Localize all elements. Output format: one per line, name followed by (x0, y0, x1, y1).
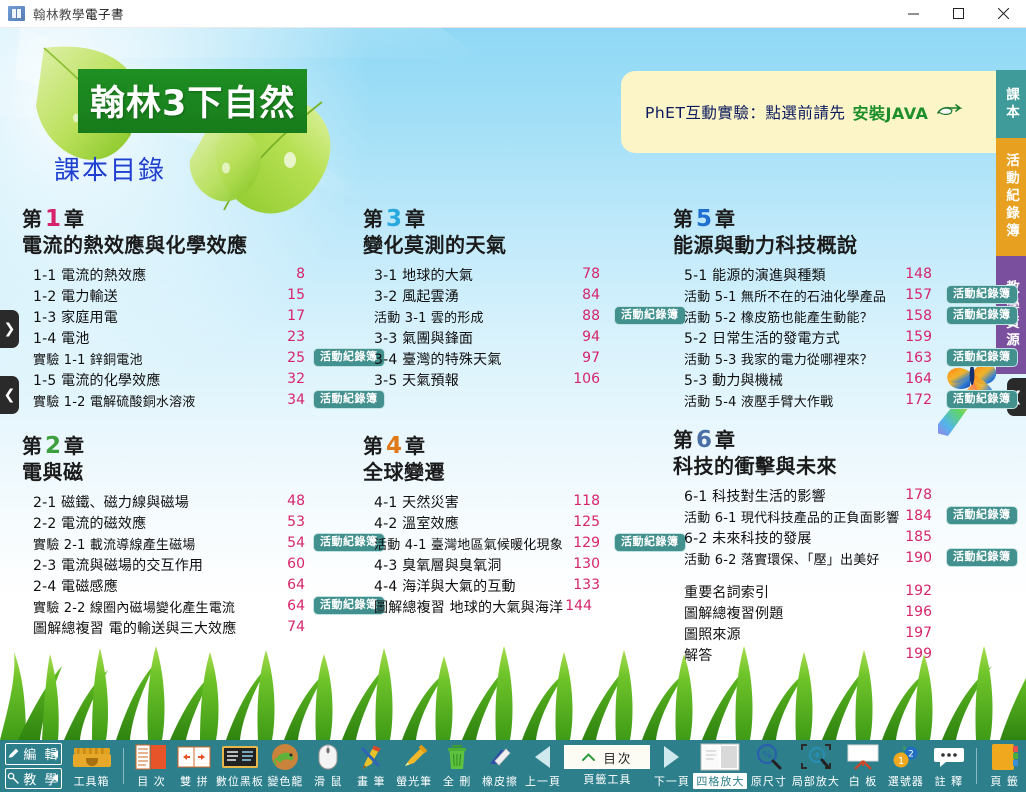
phet-notice-text: PhET互動實驗：點選前請先 (645, 101, 845, 123)
toc-entry-page: 159 (902, 327, 932, 348)
toc-entry-label: 解答 (684, 648, 712, 664)
activity-log-badge[interactable]: 活動紀錄簿 (946, 390, 1018, 409)
chapter-title: 全球變遷 (363, 459, 693, 486)
toc-entry-page: 190 (902, 548, 932, 569)
toc-entry[interactable]: 實驗 1-1 鋅銅電池25活動紀錄簿 (33, 348, 352, 369)
toc-entry-page: 125 (570, 512, 600, 533)
toc-entry-page: 94 (570, 327, 600, 348)
book-title-banner: 翰林3下自然 (78, 69, 307, 133)
book-page: 翰林3下自然 課本目錄 PhET互動實驗：點選前請先 安裝JAVA 課本 活動紀… (0, 28, 1026, 740)
actual-size-icon: % (754, 742, 784, 772)
toc-entry-label: 重要名詞索引 (684, 585, 769, 601)
toc-entry[interactable]: 活動 5-4 液壓手臂大作戰172活動紀錄簿 (684, 390, 1003, 411)
toc-entry-label: 6-1 科技對生活的影響 (684, 489, 826, 505)
toc-entry[interactable]: 活動 6-1 現代科技產品的正負面影響184活動紀錄簿 (684, 506, 1003, 527)
toc-entry-page: 178 (902, 485, 932, 506)
pen-icon (356, 742, 386, 772)
toc-entry-page: 129 (570, 533, 600, 554)
toc-entry-page: 74 (277, 617, 305, 638)
toolbar-label: 畫 筆 (357, 773, 386, 789)
triangle-left-icon (535, 746, 550, 768)
triangle-right-icon (664, 746, 679, 768)
toc-entry-label: 活動 5-3 我家的電力從哪裡來？ (684, 353, 873, 368)
chapter-prefix: 第 (22, 207, 43, 231)
toc-entry-page: 97 (570, 348, 600, 369)
edit-mode-button[interactable]: 編 輯 (5, 743, 62, 765)
toc-entry[interactable]: 3-3 氣團與鋒面94 (374, 327, 693, 348)
toc-entry-page: 106 (570, 369, 600, 390)
page-tab-tool: 目次 頁籤工具 (564, 740, 650, 792)
side-tab-textbook[interactable]: 課本 (996, 70, 1026, 138)
four-pane-zoom-button[interactable]: 四格放大 (693, 740, 747, 792)
toc-entry-page: 84 (570, 285, 600, 306)
activity-log-badge[interactable]: 活動紀錄簿 (946, 548, 1018, 567)
page-selector[interactable]: 目次 (564, 745, 650, 769)
minimize-button[interactable] (891, 0, 936, 28)
toc-entry-label: 活動 3-1 雲的形成 (374, 311, 484, 326)
toolbox-button[interactable]: 工具箱 (66, 740, 117, 792)
toc-entry-page: 130 (570, 554, 600, 575)
toolbar-label: 目 次 (137, 773, 166, 789)
chapter-suffix: 章 (64, 434, 85, 458)
chapter-prefix: 第 (363, 434, 384, 458)
chapter-title: 變化莫測的天氣 (363, 232, 693, 259)
chapter-title: 電流的熱效應與化學效應 (22, 232, 352, 259)
toc-entry[interactable]: 5-2 日常生活的發電方式159 (684, 327, 1003, 348)
chapter-heading-line: 第6章 (673, 427, 1003, 453)
toc-entry-label: 2-3 電流與磁場的交互作用 (33, 558, 203, 574)
actual-size-label: 原尺寸 (751, 773, 787, 789)
toc-entry-label: 2-4 電磁感應 (33, 579, 118, 595)
toc-entry-page: 199 (902, 644, 932, 665)
toc-entry-label: 活動 5-2 橡皮筋也能產生動能？ (684, 311, 873, 326)
toc-entry-page: 48 (277, 491, 305, 512)
four-pane-zoom-icon (700, 742, 740, 772)
page-selector-value: 目次 (603, 748, 632, 767)
toc-entry-label: 6-2 未來科技的發展 (684, 531, 812, 547)
application-window: 翰林教學電子書 (0, 0, 1026, 792)
toc-entry[interactable]: 圖解總複習例題196 (684, 602, 1003, 623)
comment-button[interactable]: 註 釋 (927, 740, 970, 792)
blackboard-icon (222, 742, 258, 772)
toc-entry-page: 164 (902, 369, 932, 390)
pointing-hand-icon (934, 100, 964, 124)
chapter-entries: 2-1 磁鐵、磁力線與磁場48 2-2 電流的磁效應53 實驗 2-1 載流導線… (33, 491, 352, 638)
phet-banner[interactable]: PhET互動實驗：點選前請先 安裝JAVA (621, 71, 1020, 153)
svg-text:%: % (762, 750, 772, 761)
toc-entry-page: 184 (902, 506, 932, 527)
teach-mode-button[interactable]: 教 學 (5, 768, 62, 790)
close-button[interactable] (981, 0, 1026, 28)
toc-entry-label: 5-2 日常生活的發電方式 (684, 331, 840, 347)
toc-entry-label: 活動 5-4 液壓手臂大作戰 (684, 395, 833, 410)
teach-mode-arrow-icon (52, 774, 58, 782)
toc-entry-page: 118 (570, 491, 600, 512)
svg-text:1: 1 (898, 756, 904, 767)
toc-entry-label: 5-1 能源的演進與種類 (684, 268, 826, 284)
toolbox-icon (70, 742, 114, 772)
install-java-link[interactable]: 安裝JAVA (852, 100, 928, 124)
toc-entry-page: 185 (902, 527, 932, 548)
toc-entry[interactable]: 5-1 能源的演進與種類148 (684, 264, 1003, 285)
mode-buttons-group: 編 輯 教 學 (0, 740, 66, 792)
toolbar-label: 螢光筆 (396, 773, 432, 789)
toc-entry[interactable]: 活動 6-2 落實環保、「壓」出美好190活動紀錄簿 (684, 548, 1003, 569)
toc-entry[interactable]: 實驗 2-1 載流導線產生磁場54活動紀錄簿 (33, 533, 352, 554)
toc-entry-page: 8 (277, 264, 305, 285)
activity-log-badge[interactable]: 活動紀錄簿 (946, 348, 1018, 367)
activity-log-badge[interactable]: 活動紀錄簿 (946, 285, 1018, 304)
toc-entry[interactable]: 6-1 科技對生活的影響178 (684, 485, 1003, 506)
number-picker-button[interactable]: 3 2 1 選號器 (884, 740, 927, 792)
toc-entry[interactable]: 3-1 地球的大氣78 (374, 264, 693, 285)
toc-entry-page: 163 (902, 348, 932, 369)
toc-entry-page: 192 (902, 581, 932, 602)
chapter-suffix: 章 (405, 434, 426, 458)
toolbar-item-toc[interactable]: 目 次 (130, 740, 173, 792)
toc-entry[interactable]: 重要名詞索引192 (684, 581, 1003, 602)
toolbar-label: 變色龍 (267, 773, 303, 789)
toc-entry-label: 4-1 天然災害 (374, 495, 459, 511)
toc-entry-label: 4-2 溫室效應 (374, 516, 459, 532)
book-icon (8, 6, 25, 21)
prev-page-label: 上一頁 (525, 773, 561, 789)
toc-entry[interactable]: 2-1 磁鐵、磁力線與磁場48 (33, 491, 352, 512)
chapter-title: 能源與動力科技概說 (673, 232, 1003, 259)
toc-entry-label: 圖解總複習例題 (684, 606, 783, 622)
toc-entry[interactable]: 5-3 動力與機械164 (684, 369, 1003, 390)
chapter-number: 6 (694, 427, 715, 453)
toc-entry[interactable]: 實驗 2-2 線圈內磁場變化產生電流64活動紀錄簿 (33, 596, 352, 617)
toc-entry[interactable]: 活動 4-1 臺灣地區氣候暖化現象129活動紀錄簿 (374, 533, 693, 554)
toc-entry-label: 5-3 動力與機械 (684, 373, 783, 389)
number-picker-label: 選號器 (888, 773, 924, 789)
toc-entry[interactable]: 3-5 天氣預報106 (374, 369, 693, 390)
chapter-number: 3 (384, 206, 405, 232)
toc-entry-label: 3-5 天氣預報 (374, 373, 459, 389)
maximize-button[interactable] (936, 0, 981, 28)
bookmark-button[interactable]: 頁 籤 (983, 740, 1026, 792)
toc-entry[interactable]: 3-2 風起雲湧84 (374, 285, 693, 306)
toolbar-divider (123, 748, 124, 784)
toc-entry-label: 1-3 家庭用電 (33, 310, 118, 326)
toc-entry-label: 活動 4-1 臺灣地區氣候暖化現象 (374, 538, 563, 553)
toc-entry[interactable]: 3-4 臺灣的特殊天氣97 (374, 348, 693, 369)
toc-entry[interactable]: 解答199 (684, 644, 1003, 665)
toc-entry[interactable]: 1-1 電流的熱效應8 (33, 264, 352, 285)
whiteboard-button[interactable]: 白 板 (841, 740, 884, 792)
toc-entry-label: 圖照來源 (684, 627, 741, 643)
toc-entry[interactable]: 6-2 未來科技的發展185 (684, 527, 1003, 548)
toc-column-right: 第5章 能源與動力科技概說 5-1 能源的演進與種類148 活動 5-1 無所不… (673, 206, 1003, 665)
mouse-icon (317, 742, 339, 772)
trash-icon (445, 742, 469, 772)
toc-entry-page: 64 (277, 596, 305, 617)
chapter-heading-line: 第5章 (673, 206, 1003, 232)
table-of-contents: 第1章 電流的熱效應與化學效應 1-1 電流的熱效應8 1-2 電力輸送15 1… (0, 206, 1026, 706)
toc-entry-label: 1-2 電力輸送 (33, 289, 118, 305)
title-bar: 翰林教學電子書 (0, 0, 1026, 28)
toc-entry[interactable]: 活動 5-1 無所不在的石油化學產品157活動紀錄簿 (684, 285, 1003, 306)
toc-entry-page: 17 (277, 306, 305, 327)
toc-entry[interactable]: 活動 3-1 雲的形成88活動紀錄簿 (374, 306, 693, 327)
toc-entry-label: 圖解總複習 地球的大氣與海洋 (374, 600, 563, 616)
toc-entry-label: 1-5 電流的化學效應 (33, 373, 161, 389)
toc-entry[interactable]: 1-4 電池23 (33, 327, 352, 348)
chapter-block: 第5章 能源與動力科技概說 5-1 能源的演進與種類148 活動 5-1 無所不… (673, 206, 1003, 411)
toc-entry-page: 15 (277, 285, 305, 306)
toc-entry[interactable]: 4-4 海洋與大氣的互動133 (374, 575, 693, 596)
chapter-prefix: 第 (673, 428, 694, 452)
chapter-block: 第1章 電流的熱效應與化學效應 1-1 電流的熱效應8 1-2 電力輸送15 1… (22, 206, 352, 411)
toc-entry-label: 1-4 電池 (33, 331, 90, 347)
toc-entry-label: 3-4 臺灣的特殊天氣 (374, 352, 502, 368)
toolbar-item-clear-all[interactable]: 全 刪 (436, 740, 479, 792)
toolbox-label: 工具箱 (74, 773, 110, 789)
pointer-icon (7, 772, 20, 785)
toc-entry-page: 172 (902, 390, 932, 411)
whiteboard-label: 白 板 (849, 773, 878, 789)
highlighter-icon (399, 742, 429, 772)
toolbar-divider (976, 748, 977, 784)
toc-entry[interactable]: 4-3 臭氧層與臭氧洞130 (374, 554, 693, 575)
toolbar-item-dual-page[interactable]: 雙 拼 (173, 740, 216, 792)
toc-entry-label: 實驗 1-1 鋅銅電池 (33, 353, 143, 368)
toolbar-item-blackboard[interactable]: 數位黑板 (216, 740, 264, 792)
chapter-number: 5 (694, 206, 715, 232)
toc-entry[interactable]: 2-4 電磁感應64 (33, 575, 352, 596)
chameleon-icon (270, 742, 300, 772)
chapter-entries: 5-1 能源的演進與種類148 活動 5-1 無所不在的石油化學產品157活動紀… (684, 264, 1003, 411)
toc-entry-page: 157 (902, 285, 932, 306)
chapter-prefix: 第 (22, 434, 43, 458)
toc-entry[interactable]: 2-2 電流的磁效應53 (33, 512, 352, 533)
region-zoom-button[interactable]: 局部放大 (790, 740, 841, 792)
toc-entry-label: 1-1 電流的熱效應 (33, 268, 146, 284)
chapter-block: 第2章 電與磁 2-1 磁鐵、磁力線與磁場48 2-2 電流的磁效應53 實驗 … (22, 433, 352, 638)
toolbar-item-pen[interactable]: 畫 筆 (350, 740, 393, 792)
chapter-number: 2 (43, 433, 64, 459)
chapter-entries: 6-1 科技對生活的影響178 活動 6-1 現代科技產品的正負面影響184活動… (684, 485, 1003, 569)
toc-entry[interactable]: 1-2 電力輸送15 (33, 285, 352, 306)
toc-entry-page: 54 (277, 533, 305, 554)
toolbar-item-mouse[interactable]: 滑 鼠 (307, 740, 350, 792)
chapter-heading-line: 第1章 (22, 206, 352, 232)
chapter-entries: 1-1 電流的熱效應8 1-2 電力輸送15 1-3 家庭用電17 1-4 電池… (33, 264, 352, 411)
eraser-icon (485, 742, 515, 772)
activity-log-badge[interactable]: 活動紀錄簿 (946, 306, 1018, 325)
chapter-block: 第6章 科技的衝擊與未來 6-1 科技對生活的影響178 活動 6-1 現代科技… (673, 427, 1003, 665)
toc-entry-page: 88 (570, 306, 600, 327)
toc-entry-page: 60 (277, 554, 305, 575)
prev-page-button[interactable]: 上一頁 (521, 740, 564, 792)
toolbar-label: 雙 拼 (180, 773, 209, 789)
toc-entry-page: 133 (570, 575, 600, 596)
toc-entry-page: 23 (277, 327, 305, 348)
toc-entry-label: 活動 6-1 現代科技產品的正負面影響 (684, 511, 899, 526)
region-zoom-icon (800, 742, 832, 772)
toc-entry-label: 3-3 氣團與鋒面 (374, 331, 473, 347)
toc-entry[interactable]: 2-3 電流與磁場的交互作用60 (33, 554, 352, 575)
chapter-suffix: 章 (715, 428, 736, 452)
window-controls (891, 0, 1026, 28)
chapter-suffix: 章 (64, 207, 85, 231)
chapter-block: 第3章 變化莫測的天氣 3-1 地球的大氣78 3-2 風起雲湧84 活動 3-… (363, 206, 693, 390)
toc-entry-label: 活動 6-2 落實環保、「壓」出美好 (684, 553, 880, 568)
toc-entry-label: 實驗 2-1 載流導線產生磁場 (33, 538, 196, 553)
whiteboard-icon (846, 742, 880, 772)
toolbar-label: 數位黑板 (216, 773, 264, 789)
chapter-heading-line: 第3章 (363, 206, 693, 232)
chapter-title: 電與磁 (22, 459, 352, 486)
chapter-number: 4 (384, 433, 405, 459)
toc-entry-page: 53 (277, 512, 305, 533)
toc-entry[interactable]: 圖解總複習 地球的大氣與海洋144 (374, 596, 693, 617)
toc-entry[interactable]: 4-2 溫室效應125 (374, 512, 693, 533)
pencil-icon (7, 747, 20, 760)
toc-entry-label: 3-1 地球的大氣 (374, 268, 473, 284)
window-title: 翰林教學電子書 (33, 4, 124, 23)
toc-entry-label: 實驗 2-2 線圈內磁場變化產生電流 (33, 601, 235, 616)
chapter-entries: 4-1 天然災害118 4-2 溫室效應125 活動 4-1 臺灣地區氣候暖化現… (374, 491, 693, 617)
toc-column-left: 第1章 電流的熱效應與化學效應 1-1 電流的熱效應8 1-2 電力輸送15 1… (22, 206, 352, 638)
toolbar-label: 全 刪 (443, 773, 472, 789)
comment-icon (933, 742, 965, 772)
chapter-suffix: 章 (715, 207, 736, 231)
next-page-button[interactable]: 下一頁 (650, 740, 693, 792)
toc-entry[interactable]: 4-1 天然災害118 (374, 491, 693, 512)
toolbar-item-highlighter[interactable]: 螢光筆 (393, 740, 436, 792)
toc-entry[interactable]: 圖解總複習 電的輸送與三大效應74 (33, 617, 352, 638)
toc-entry[interactable]: 活動 5-2 橡皮筋也能產生動能？158活動紀錄簿 (684, 306, 1003, 327)
toc-entry-page: 34 (277, 390, 305, 411)
toolbar-item-eraser[interactable]: 橡皮擦 (479, 740, 522, 792)
toc-entry[interactable]: 活動 5-3 我家的電力從哪裡來？163活動紀錄簿 (684, 348, 1003, 369)
toc-entry-label: 3-2 風起雲湧 (374, 289, 459, 305)
toc-entry[interactable]: 圖照來源197 (684, 623, 1003, 644)
toolbar-label: 滑 鼠 (314, 773, 343, 789)
toc-entry-label: 2-2 電流的磁效應 (33, 516, 146, 532)
toc-entry[interactable]: 1-5 電流的化學效應32 (33, 369, 352, 390)
toc-entry-label: 實驗 1-2 電解硫酸銅水溶液 (33, 395, 196, 410)
chapter-number: 1 (43, 206, 64, 232)
chapter-heading-line: 第2章 (22, 433, 352, 459)
toc-entry[interactable]: 實驗 1-2 電解硫酸銅水溶液34活動紀錄簿 (33, 390, 352, 411)
banner-leaves-decoration: 翰林3下自然 課本目錄 (10, 32, 360, 222)
toc-entry-page: 197 (902, 623, 932, 644)
toc-entry-label: 4-3 臭氧層與臭氧洞 (374, 558, 502, 574)
chapter-heading-line: 第4章 (363, 433, 693, 459)
bookmark-label: 頁 籤 (990, 773, 1019, 789)
number-picker-icon: 3 2 1 (889, 742, 923, 772)
chapter-title: 科技的衝擊與未來 (673, 453, 1003, 480)
toc-entry-page: 78 (570, 264, 600, 285)
toc-entry[interactable]: 1-3 家庭用電17 (33, 306, 352, 327)
actual-size-button[interactable]: % 原尺寸 (747, 740, 790, 792)
catalog-heading: 課本目錄 (54, 150, 166, 187)
dual-page-icon (177, 742, 211, 772)
toc-entry-label: 活動 5-1 無所不在的石油化學產品 (684, 290, 886, 305)
svg-text:2: 2 (908, 750, 914, 760)
comment-label: 註 釋 (935, 773, 964, 789)
chapter-suffix: 章 (405, 207, 426, 231)
toolbar-item-chameleon[interactable]: 變色龍 (264, 740, 307, 792)
toc-entry-label: 4-4 海洋與大氣的互動 (374, 579, 516, 595)
region-zoom-label: 局部放大 (792, 773, 840, 789)
toc-entry-page: 158 (902, 306, 932, 327)
edit-mode-arrow-icon (52, 750, 58, 758)
toc-entry-label: 2-1 磁鐵、磁力線與磁場 (33, 495, 189, 511)
chapter-prefix: 第 (673, 207, 694, 231)
chevron-up-icon (582, 753, 595, 762)
chapter-block: 第4章 全球變遷 4-1 天然災害118 4-2 溫室效應125 活動 4-1 … (363, 433, 693, 617)
toc-entry-page: 144 (562, 596, 592, 617)
toc-column-middle: 第3章 變化莫測的天氣 3-1 地球的大氣78 3-2 風起雲湧84 活動 3-… (363, 206, 693, 617)
chapter-entries: 3-1 地球的大氣78 3-2 風起雲湧84 活動 3-1 雲的形成88活動紀錄… (374, 264, 693, 390)
bookmark-icon (989, 742, 1021, 772)
next-page-label: 下一頁 (654, 773, 690, 789)
toc-entry-page: 196 (902, 602, 932, 623)
table-of-contents-icon (135, 742, 167, 772)
page-tab-tool-label: 頁籤工具 (564, 771, 650, 787)
toolbar-label: 橡皮擦 (482, 773, 518, 789)
bottom-toolbar: 編 輯 教 學 工具箱 (0, 740, 1026, 792)
toc-entry-page: 32 (277, 369, 305, 390)
four-pane-zoom-label: 四格放大 (693, 773, 747, 789)
book-title: 翰林3下自然 (90, 75, 295, 126)
toc-entry-page: 148 (902, 264, 932, 285)
toc-entry-page: 64 (277, 575, 305, 596)
toc-entry-label: 圖解總複習 電的輸送與三大效應 (33, 621, 236, 637)
activity-log-badge[interactable]: 活動紀錄簿 (946, 506, 1018, 525)
toc-entry-page: 25 (277, 348, 305, 369)
back-matter-entries: 重要名詞索引192 圖解總複習例題196 圖照來源197 解答199 (684, 581, 1003, 665)
chapter-prefix: 第 (363, 207, 384, 231)
